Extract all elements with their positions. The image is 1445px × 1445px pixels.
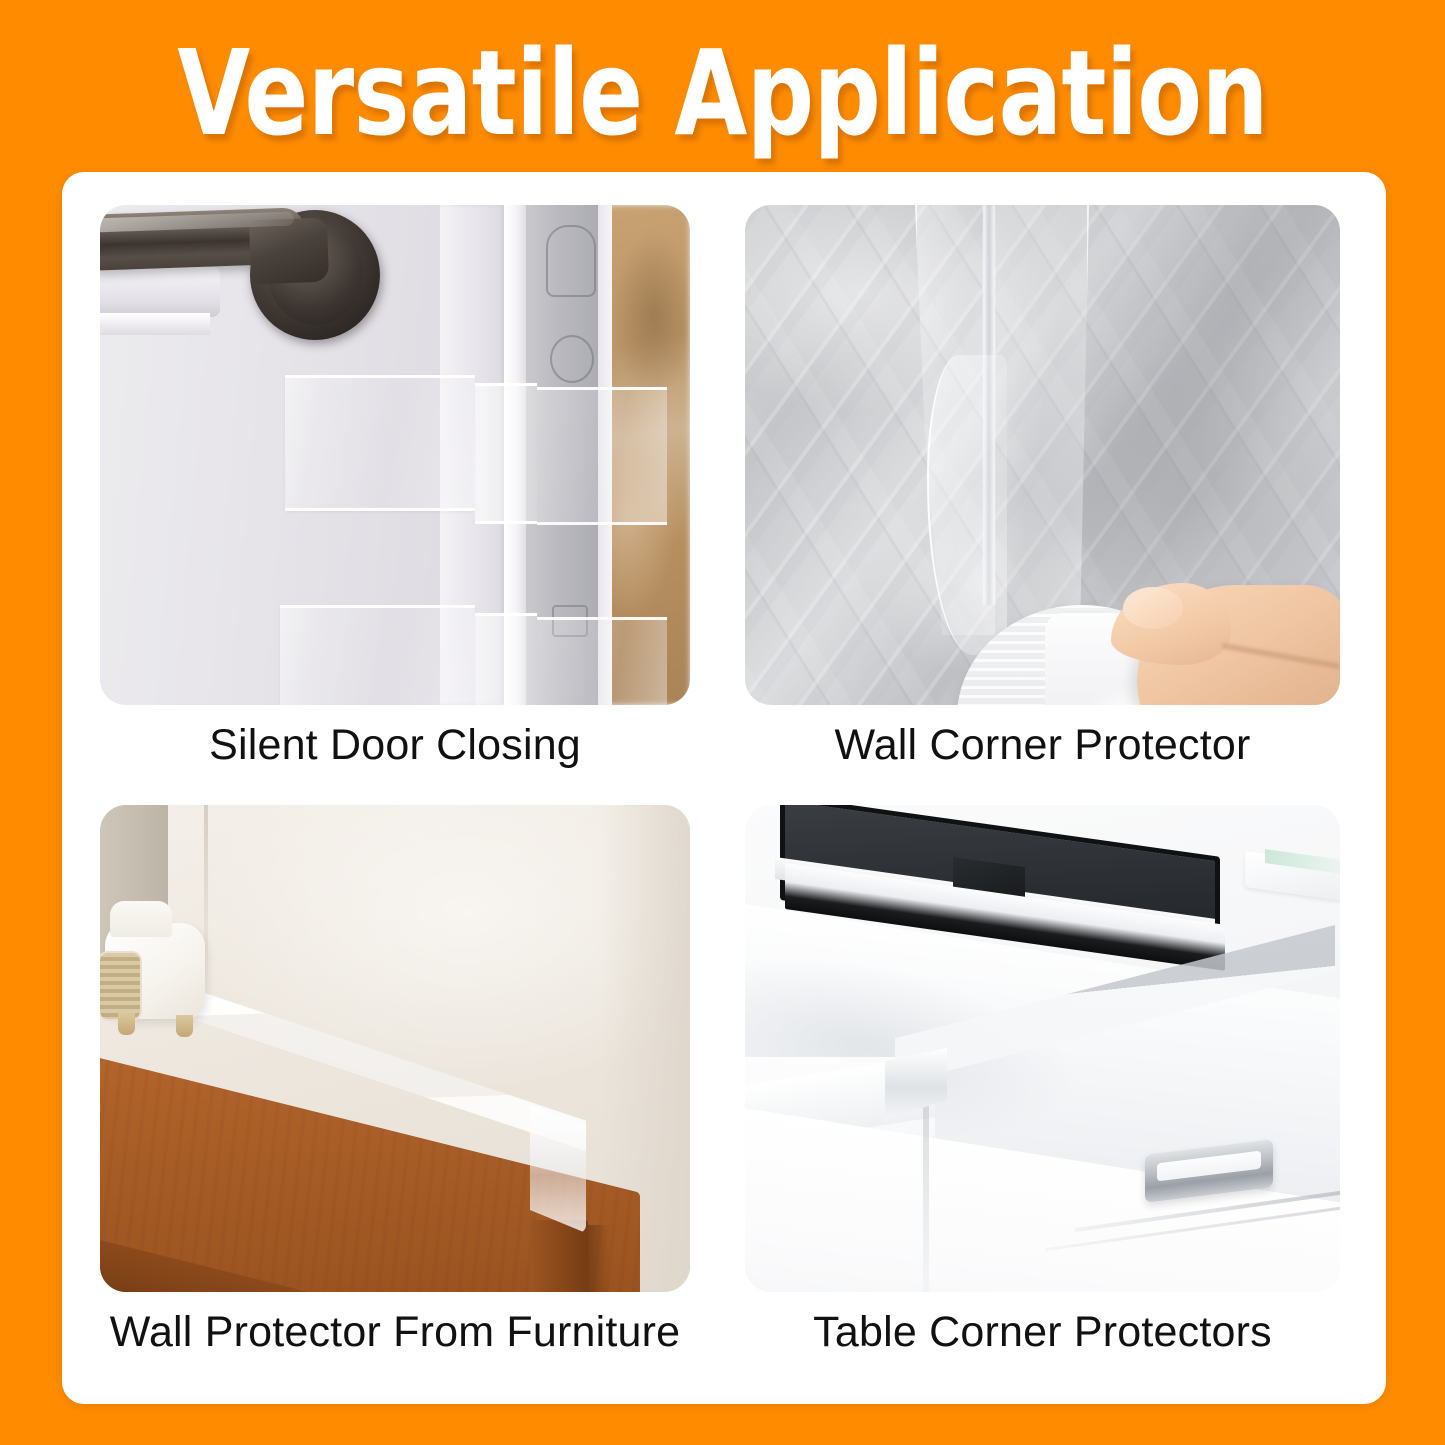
panel-silent-door-closing[interactable]: Silent Door Closing <box>100 205 690 705</box>
caption-table-corner-protectors: Table Corner Protectors <box>745 1308 1340 1357</box>
door-frame-trim <box>100 267 220 317</box>
wooden-table-leg-shadow <box>588 1225 610 1292</box>
caption-silent-door-closing: Silent Door Closing <box>100 721 690 770</box>
cabinet-corner-line <box>923 1105 929 1292</box>
door-lever-nose <box>249 218 329 285</box>
panel-table-corner-protectors[interactable]: Table Corner Protectors <box>745 805 1340 1292</box>
corner-guard-lower-side <box>537 617 667 705</box>
retro-speaker-leg-right <box>176 1015 193 1037</box>
door-frame-trim-lower <box>100 313 210 335</box>
clear-tape-right-face <box>995 205 1089 650</box>
corner-guard-upper-front <box>285 375 475 511</box>
panel-wall-protector-from-furniture[interactable]: Wall Protector From Furniture <box>100 805 690 1292</box>
door-latch-plate-icon <box>546 225 596 297</box>
corner-guard-upper-side <box>537 387 667 525</box>
caption-wall-corner-protector: Wall Corner Protector <box>745 721 1340 770</box>
corner-guard-lower-edge <box>475 613 537 705</box>
panel-wall-corner-protector[interactable]: Wall Corner Protector <box>745 205 1340 705</box>
panel-grid: Silent Door Closing Wall Corner Protecto… <box>62 172 1386 1404</box>
retro-speaker-leg-left <box>118 1013 135 1035</box>
door-bolt-circle-icon <box>550 335 594 383</box>
header-bar: Versatile Application <box>0 0 1445 172</box>
caption-wall-protector-from-furniture: Wall Protector From Furniture <box>100 1308 690 1357</box>
photo-silent-door-closing <box>100 205 690 705</box>
wooden-table-leg <box>530 1220 588 1292</box>
retro-speaker-grille <box>100 951 142 1021</box>
photo-table-corner-protectors <box>745 805 1340 1292</box>
page-title: Versatile Application <box>177 34 1267 152</box>
photo-wall-corner-protector <box>745 205 1340 705</box>
photo-wall-protector-from-furniture <box>100 805 690 1292</box>
corner-guard-lower-front <box>280 605 475 705</box>
content-card: Silent Door Closing Wall Corner Protecto… <box>62 172 1386 1404</box>
retro-speaker-top <box>110 901 172 937</box>
corner-guard-upper-edge <box>475 383 537 524</box>
thumbnail <box>1123 587 1183 629</box>
